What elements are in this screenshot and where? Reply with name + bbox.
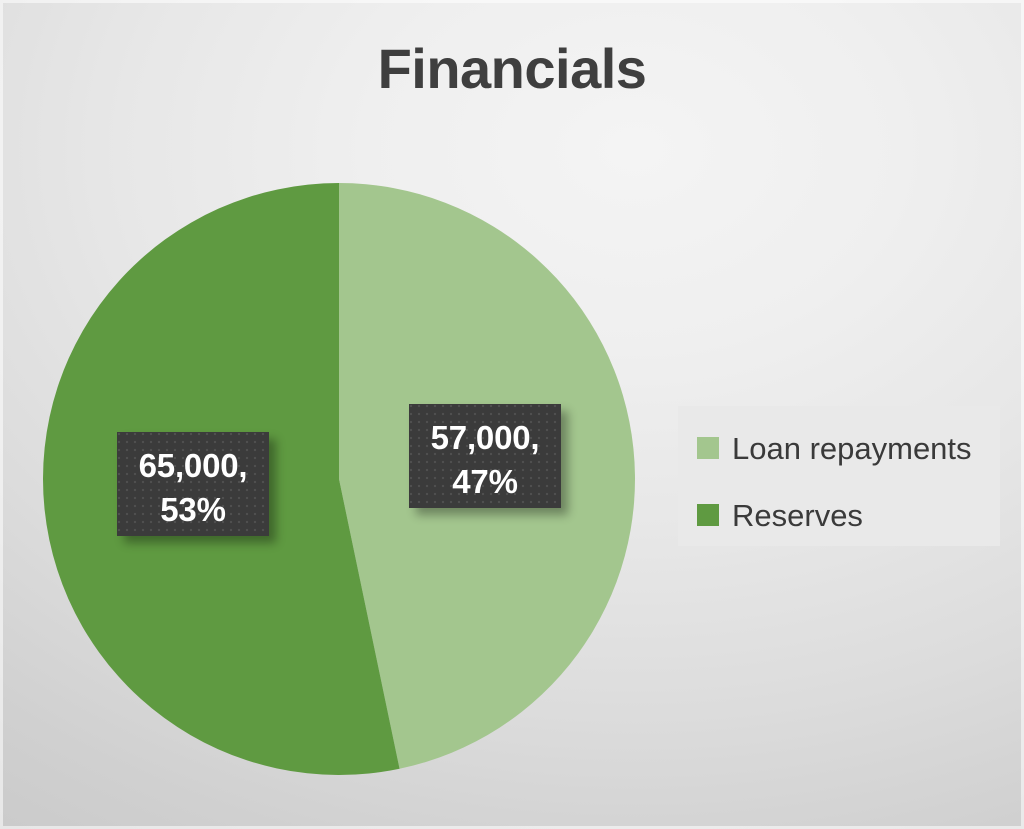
chart-slide: Financials 57,000, 47% 65,000, 53% Loan … (0, 0, 1024, 829)
legend-item-reserves[interactable]: Reserves (697, 493, 1000, 537)
legend-swatch-icon-reserves (697, 504, 719, 526)
data-label-loan-repayments: 57,000, 47% (409, 404, 561, 508)
legend-label-reserves: Reserves (732, 500, 863, 531)
chart-title: Financials (0, 40, 1024, 99)
legend-label-loan-repayments: Loan repayments (732, 433, 972, 464)
chart-legend: Loan repayments Reserves (678, 406, 1000, 546)
legend-item-loan-repayments[interactable]: Loan repayments (697, 426, 1000, 470)
legend-swatch-icon-loan-repayments (697, 437, 719, 459)
data-label-reserves: 65,000, 53% (117, 432, 269, 536)
